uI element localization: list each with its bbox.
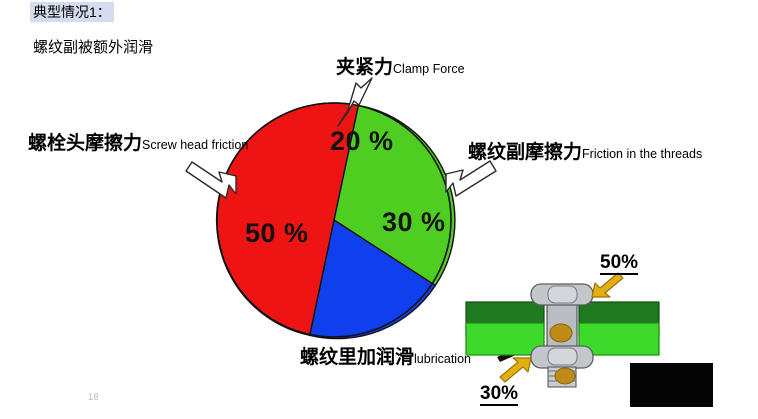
callout-screw-head-friction-en: Screw head friction bbox=[142, 138, 248, 152]
redaction-block bbox=[630, 363, 713, 407]
bolt-label-head-percent: 50% bbox=[600, 253, 638, 275]
callout-screw-head-friction-cn: 螺栓头摩擦力 bbox=[28, 133, 142, 154]
callout-lubrication: 螺纹里加润滑lubrication bbox=[300, 348, 471, 367]
callout-thread-friction: 螺纹副摩擦力Friction in the threads bbox=[468, 143, 702, 162]
bolt-nut bbox=[531, 346, 593, 368]
callout-screw-head-friction: 螺栓头摩擦力Screw head friction bbox=[28, 134, 248, 153]
callout-thread-friction-en: Friction in the threads bbox=[582, 147, 702, 161]
arrow-thread-friction-icon bbox=[500, 358, 531, 382]
callout-clamp-force-cn: 夹紧力 bbox=[336, 57, 393, 78]
page-subtitle: 螺纹副被额外润滑 bbox=[33, 38, 153, 57]
slide-canvas: 典型情况1： 螺纹副被额外润滑 20 % 30 % 50 % 夹紧力Clamp … bbox=[0, 0, 758, 419]
callout-thread-friction-cn: 螺纹副摩擦力 bbox=[468, 142, 582, 163]
bolt-head bbox=[531, 284, 593, 305]
page-title: 典型情况1： bbox=[30, 2, 114, 22]
callout-clamp-force-en: Clamp Force bbox=[393, 62, 465, 76]
pie-value-screwhead: 50 % bbox=[245, 218, 309, 249]
page-number: 18 bbox=[88, 392, 99, 402]
callout-lubrication-cn: 螺纹里加润滑 bbox=[300, 347, 414, 368]
bolt-label-thread-percent: 30% bbox=[480, 384, 518, 406]
arrow-head-friction-icon bbox=[592, 273, 623, 297]
pie-value-clamp: 20 % bbox=[330, 126, 394, 157]
callout-clamp-force: 夹紧力Clamp Force bbox=[336, 58, 465, 77]
pie-value-threads: 30 % bbox=[382, 207, 446, 238]
